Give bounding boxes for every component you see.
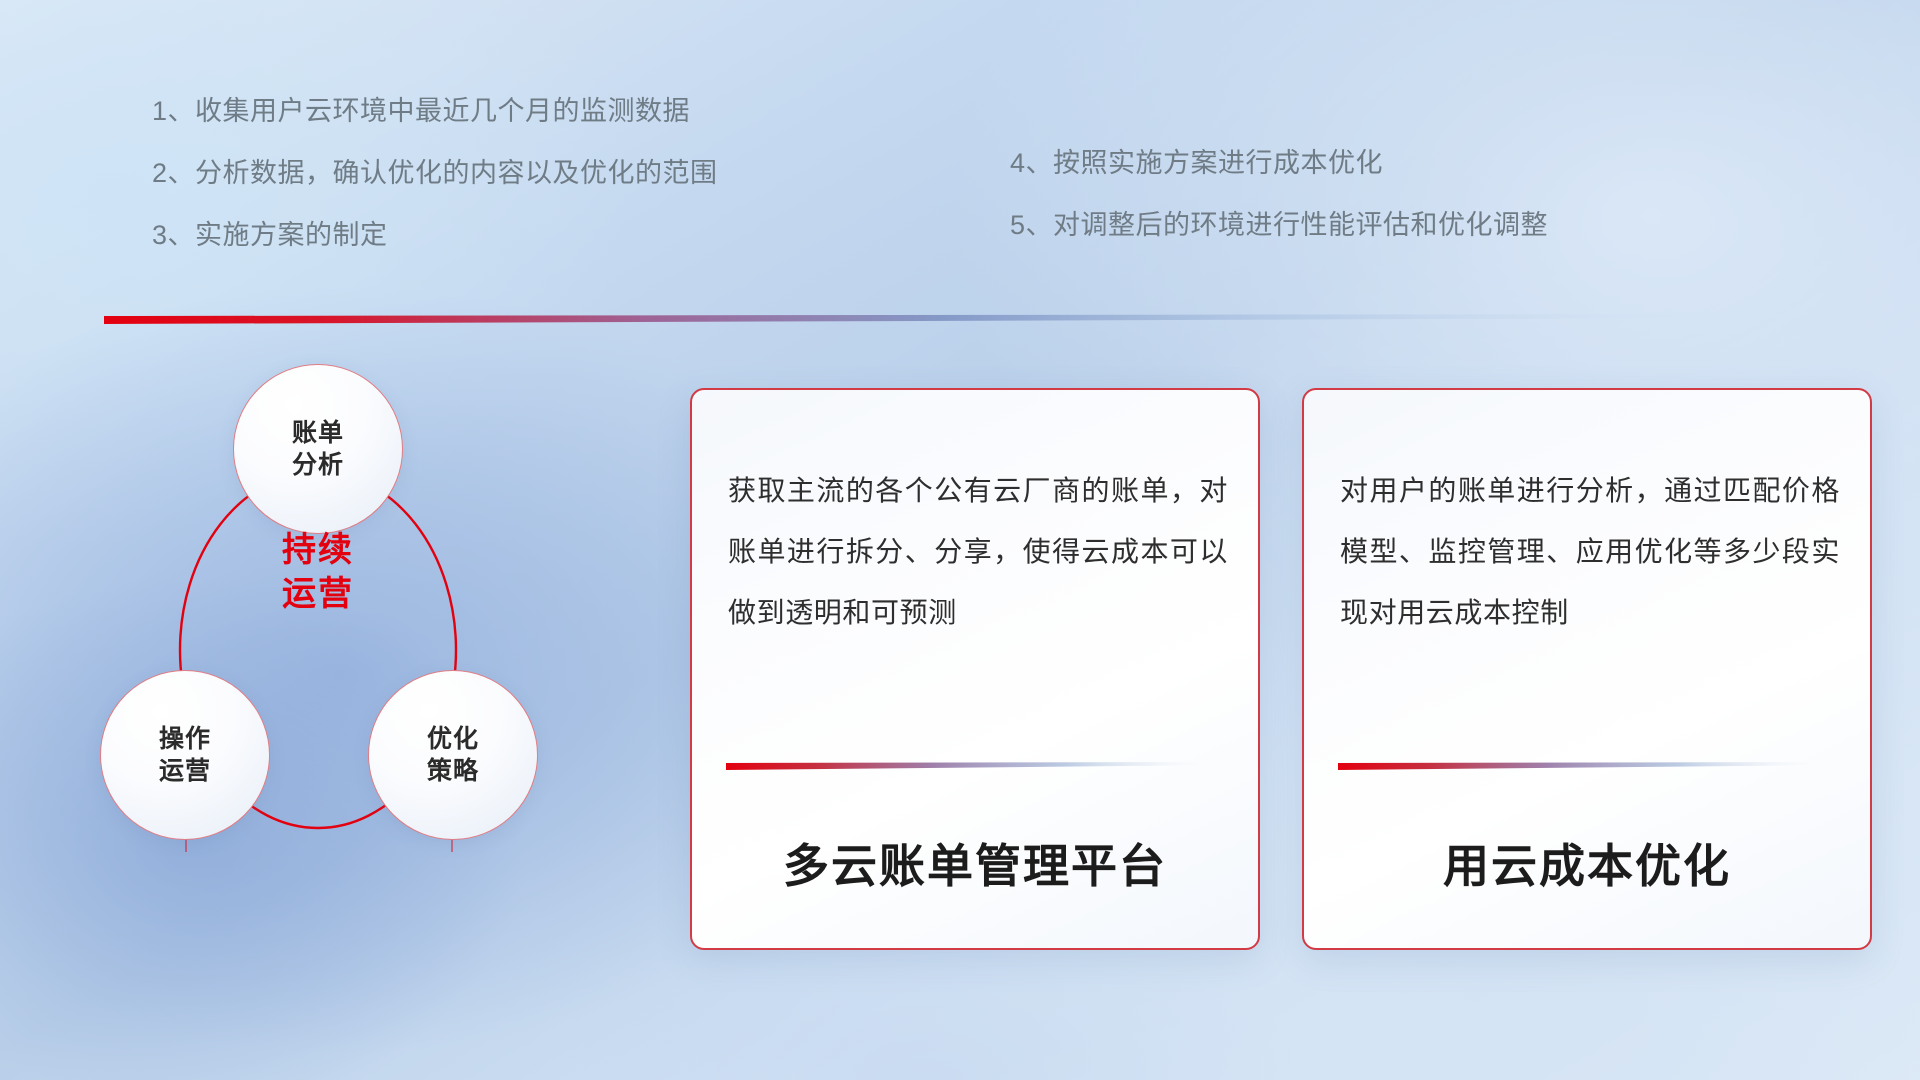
- lobe-strategy-line1: 优化: [427, 725, 479, 753]
- venn-lobe-strategy[interactable]: 优化 策略: [368, 670, 538, 840]
- bullet-item-3: 3、实施方案的制定: [152, 222, 718, 249]
- venn-lobe-strategy-label: 优化 策略: [427, 723, 479, 787]
- lobe-ops-line2: 运营: [159, 757, 211, 785]
- venn-diagram: 账单 分析 操作 运营 优化 策略 持续 运营: [90, 360, 650, 950]
- card-2-accent-rule: [1338, 762, 1836, 771]
- center-label-line2: 运营: [282, 575, 354, 613]
- bullet-item-2: 2、分析数据，确认优化的内容以及优化的范围: [152, 160, 718, 187]
- venn-lobe-bill-analysis[interactable]: 账单 分析: [233, 364, 403, 534]
- card-multi-cloud-billing[interactable]: 获取主流的各个公有云厂商的账单，对账单进行拆分、分享，使得云成本可以做到透明和可…: [690, 388, 1260, 950]
- card-1-title: 多云账单管理平台: [692, 830, 1258, 896]
- bullet-item-1: 1、收集用户云环境中最近几个月的监测数据: [152, 98, 718, 125]
- card-1-body: 获取主流的各个公有云厂商的账单，对账单进行拆分、分享，使得云成本可以做到透明和可…: [728, 460, 1228, 643]
- section-divider: [104, 314, 1714, 325]
- lobe-strategy-line2: 策略: [427, 757, 479, 785]
- card-2-body: 对用户的账单进行分析，通过匹配价格模型、监控管理、应用优化等多少段实现对用云成本…: [1340, 460, 1840, 643]
- lobe-ops-line1: 操作: [159, 725, 211, 753]
- lobe-bill-line2: 分析: [292, 451, 344, 479]
- card-cloud-cost-optimization[interactable]: 对用户的账单进行分析，通过匹配价格模型、监控管理、应用优化等多少段实现对用云成本…: [1302, 388, 1872, 950]
- venn-lobe-operations[interactable]: 操作 运营: [100, 670, 270, 840]
- lobe-bill-line1: 账单: [292, 419, 344, 447]
- card-1-accent-rule: [726, 762, 1224, 771]
- venn-lobe-operations-label: 操作 运营: [159, 723, 211, 787]
- card-2-title: 用云成本优化: [1304, 830, 1870, 896]
- venn-lobe-bill-analysis-label: 账单 分析: [292, 417, 344, 481]
- bullet-item-5: 5、对调整后的环境进行性能评估和优化调整: [1010, 212, 1548, 239]
- center-label-line1: 持续: [282, 531, 354, 569]
- bullet-item-4: 4、按照实施方案进行成本优化: [1010, 150, 1548, 177]
- bullet-lists-area: 1、收集用户云环境中最近几个月的监测数据 2、分析数据，确认优化的内容以及优化的…: [0, 0, 1920, 300]
- bullet-list-right: 4、按照实施方案进行成本优化 5、对调整后的环境进行性能评估和优化调整: [1010, 150, 1548, 274]
- bullet-list-left: 1、收集用户云环境中最近几个月的监测数据 2、分析数据，确认优化的内容以及优化的…: [152, 98, 718, 284]
- venn-center-label: 持续 运营: [233, 528, 403, 616]
